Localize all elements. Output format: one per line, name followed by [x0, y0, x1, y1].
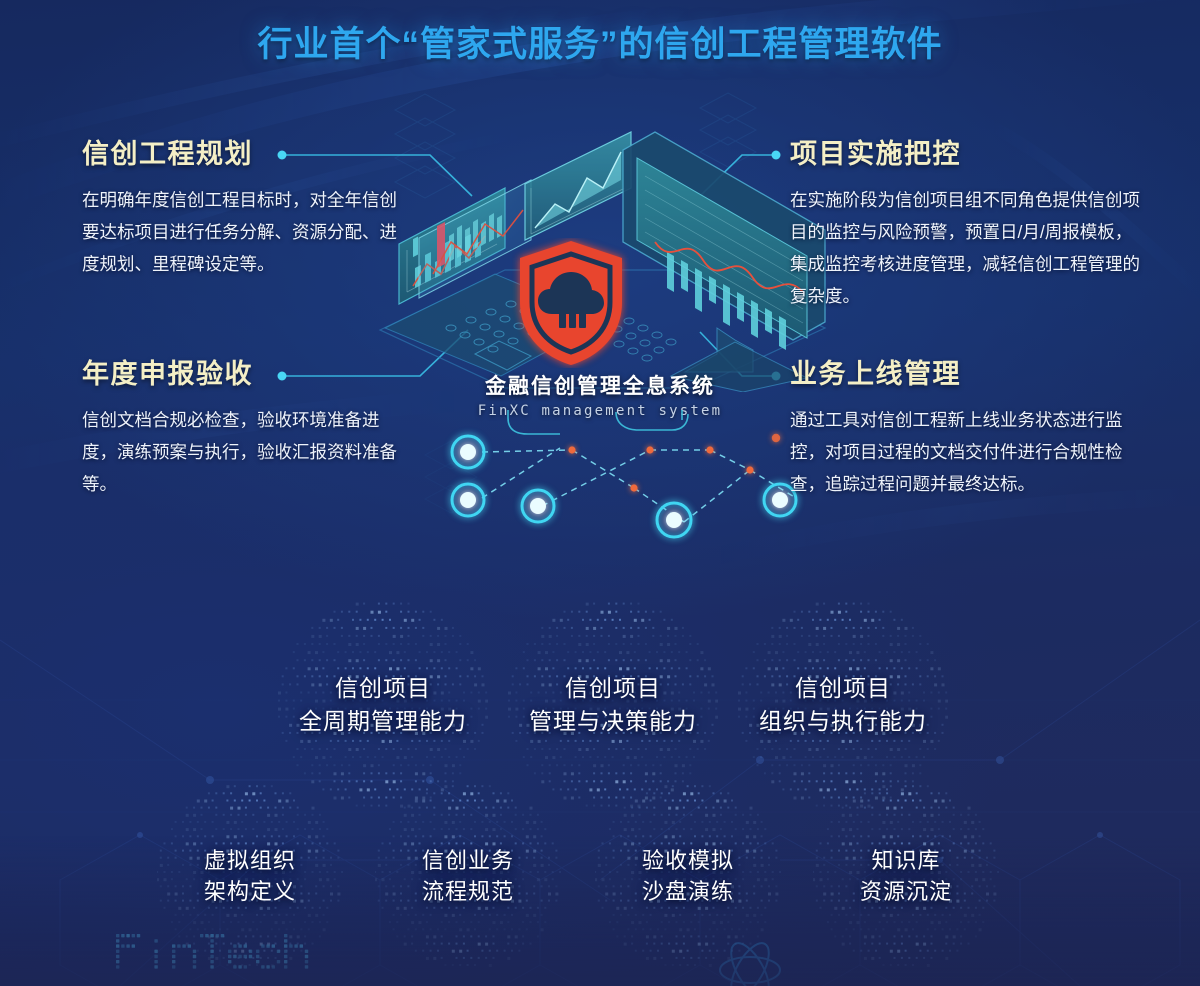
- capability-sphere-knowledge: 知识库 资源沉淀: [813, 783, 999, 969]
- capability-sphere-label: 验收模拟 沙盘演练: [642, 845, 734, 907]
- capability-sphere-label: 信创业务 流程规范: [422, 845, 514, 907]
- capability-sphere-label: 信创项目 管理与决策能力: [529, 672, 697, 737]
- sphere-label-line1: 虚拟组织: [204, 845, 296, 876]
- capability-sphere-decision: 信创项目 管理与决策能力: [508, 600, 718, 810]
- sphere-label-line1: 信创项目: [759, 672, 927, 705]
- feature-block-online: 业务上线管理 通过工具对信创工程新上线业务状态进行监控，对项目过程的文档交付件进…: [790, 352, 1142, 501]
- sphere-label-line2: 全周期管理能力: [299, 705, 467, 738]
- feature-block-planning: 信创工程规划 在明确年度信创工程目标时，对全年信创要达标项目进行任务分解、资源分…: [82, 132, 412, 281]
- sphere-label-line1: 信创项目: [529, 672, 697, 705]
- sphere-label-line1: 验收模拟: [642, 845, 734, 876]
- sphere-label-line2: 管理与决策能力: [529, 705, 697, 738]
- network-node-diagram: [420, 410, 820, 550]
- center-label-cn: 金融信创管理全息系统: [380, 370, 820, 400]
- feature-body-acceptance: 信创文档合规必检查，验收环境准备进度，演练预案与执行，验收汇报资料准备等。: [82, 405, 412, 501]
- feature-body-online: 通过工具对信创工程新上线业务状态进行监控，对项目过程的文档交付件进行合规性检查，…: [790, 405, 1142, 501]
- sphere-label-line1: 信创业务: [422, 845, 514, 876]
- feature-heading-online: 业务上线管理: [790, 352, 1142, 391]
- sphere-label-line1: 信创项目: [299, 672, 467, 705]
- infographic-canvas: 行业首个“管家式服务”的信创工程管理软件: [0, 0, 1200, 986]
- capability-sphere-label: 知识库 资源沉淀: [860, 845, 952, 907]
- sphere-label-line2: 架构定义: [204, 876, 296, 907]
- capability-sphere-lifecycle: 信创项目 全周期管理能力: [278, 600, 488, 810]
- shield-cloud-chart-icon: [512, 238, 630, 368]
- feature-body-implementation: 在实施阶段为信创项目组不同角色提供信创项目的监控与风险预警，预置日/月/周报模板…: [790, 185, 1142, 312]
- sphere-label-line2: 组织与执行能力: [759, 705, 927, 738]
- feature-heading-acceptance: 年度申报验收: [82, 352, 412, 391]
- capability-sphere-process: 信创业务 流程规范: [375, 783, 561, 969]
- sphere-label-line2: 流程规范: [422, 876, 514, 907]
- atom-icon: [690, 930, 810, 986]
- feature-body-planning: 在明确年度信创工程目标时，对全年信创要达标项目进行任务分解、资源分配、进度规划、…: [82, 185, 412, 281]
- capability-sphere-label: 信创项目 组织与执行能力: [759, 672, 927, 737]
- feature-heading-implementation: 项目实施把控: [790, 132, 1142, 171]
- feature-block-acceptance: 年度申报验收 信创文档合规必检查，验收环境准备进度，演练预案与执行，验收汇报资料…: [82, 352, 412, 501]
- sphere-label-line2: 资源沉淀: [860, 876, 952, 907]
- feature-block-implementation: 项目实施把控 在实施阶段为信创项目组不同角色提供信创项目的监控与风险预警，预置日…: [790, 132, 1142, 312]
- fintech-dot-matrix-watermark: [112, 922, 352, 982]
- capability-sphere-execution: 信创项目 组织与执行能力: [738, 600, 948, 810]
- capability-sphere-label: 信创项目 全周期管理能力: [299, 672, 467, 737]
- sphere-label-line1: 知识库: [860, 845, 952, 876]
- capability-sphere-label: 虚拟组织 架构定义: [204, 845, 296, 907]
- feature-heading-planning: 信创工程规划: [82, 132, 412, 171]
- sphere-label-line2: 沙盘演练: [642, 876, 734, 907]
